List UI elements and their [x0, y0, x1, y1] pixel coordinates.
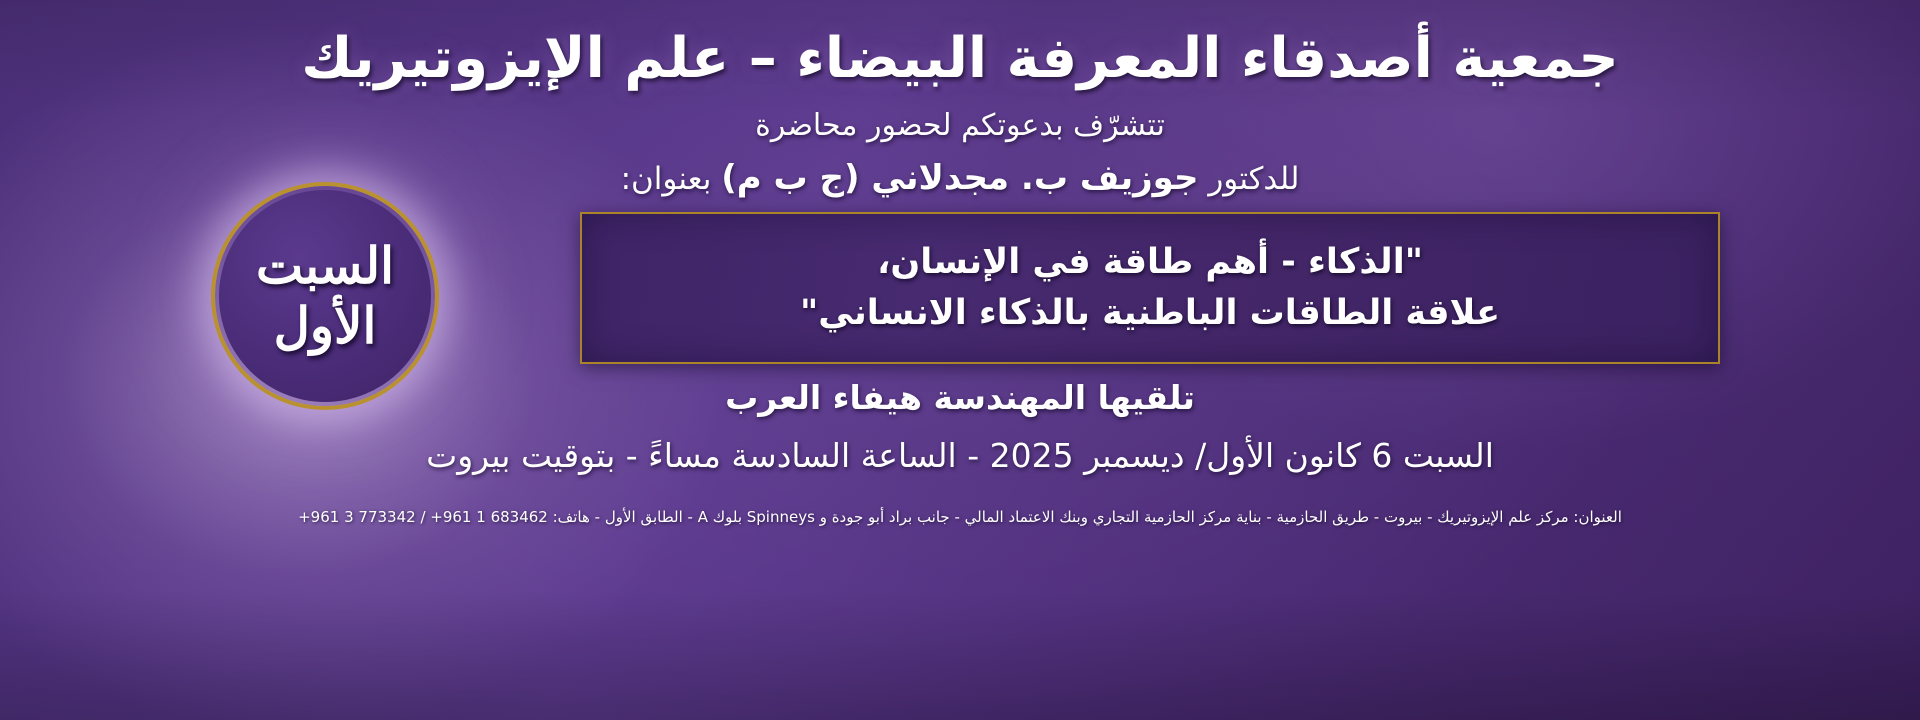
invitation-line: تتشرّف بدعوتكم لحضور محاضرة [0, 108, 1920, 143]
lecture-title-line-1: "الذكاء - أهم طاقة في الإنسان، [877, 237, 1423, 288]
organization-title: جمعية أصدقاء المعرفة البيضاء – علم الإيز… [0, 26, 1920, 91]
speaker-prefix: للدكتور [1198, 161, 1299, 197]
speaker-suffix: بعنوان: [621, 161, 722, 197]
date-badge-day: السبت [256, 241, 394, 291]
event-datetime-line: السبت 6 كانون الأول/ ديسمبر 2025 - الساع… [0, 436, 1920, 475]
date-badge: السبت الأول [215, 186, 435, 406]
speaker-name: جوزيف ب. مجدلاني (ج ب م) [721, 158, 1198, 198]
date-badge-ordinal: الأول [274, 301, 377, 351]
lecture-title-box: "الذكاء - أهم طاقة في الإنسان، علاقة الط… [580, 212, 1720, 364]
event-banner: جمعية أصدقاء المعرفة البيضاء – علم الإيز… [0, 0, 1920, 720]
lecture-title-line-2: علاقة الطاقات الباطنية بالذكاء الانساني" [800, 288, 1500, 339]
banner-content: جمعية أصدقاء المعرفة البيضاء – علم الإيز… [0, 0, 1920, 720]
address-contact-line: العنوان: مركز علم الإيزوتيريك - بيروت - … [0, 508, 1920, 526]
